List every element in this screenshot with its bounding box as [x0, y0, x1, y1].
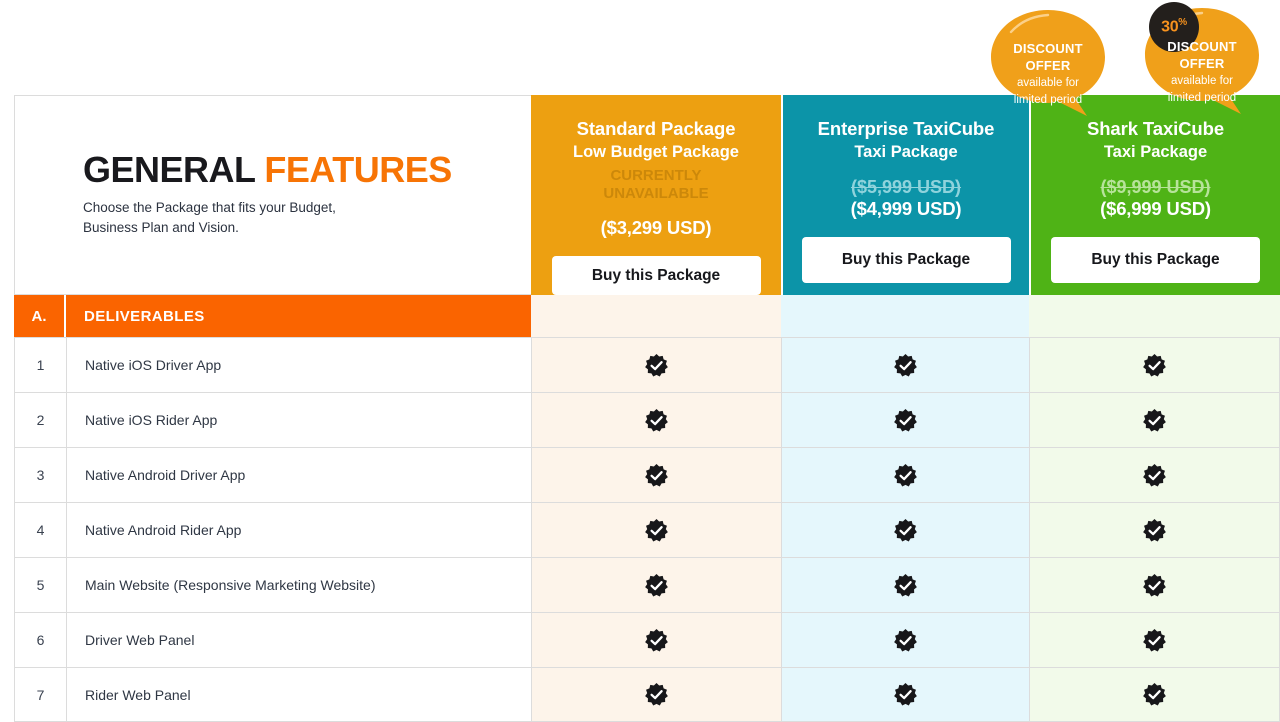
page-subtitle: Choose the Package that fits your Budget… — [83, 198, 531, 239]
feature-availability-enterprise — [781, 612, 1029, 667]
package-header-standard: Standard Package Low Budget Package CURR… — [531, 95, 781, 295]
check-badge-icon — [1143, 519, 1166, 542]
feature-label: Rider Web Panel — [66, 667, 531, 722]
page-title-primary: GENERAL — [83, 149, 255, 190]
feature-label: Native iOS Rider App — [66, 392, 531, 447]
feature-availability-shark — [1029, 337, 1280, 392]
check-badge-icon — [894, 409, 917, 432]
feature-label: Native Android Rider App — [66, 502, 531, 557]
feature-availability-enterprise — [781, 392, 1029, 447]
package-name-standard: Standard Package — [577, 117, 736, 142]
package-status-standard-line-2: UNAVAILABLE — [603, 185, 708, 203]
check-badge-icon — [1143, 409, 1166, 432]
row-number: 5 — [14, 557, 66, 612]
row-number: 2 — [14, 392, 66, 447]
pricing-table: GENERAL FEATURES Choose the Package that… — [14, 95, 1266, 722]
discount-badge-enterprise[interactable]: DISCOUNT OFFER available for limited per… — [983, 4, 1113, 116]
package-name-shark: Shark TaxiCube — [1087, 117, 1224, 142]
feature-availability-shark — [1029, 502, 1280, 557]
package-status-standard: CURRENTLY UNAVAILABLE — [603, 167, 708, 203]
feature-availability-enterprise — [781, 337, 1029, 392]
feature-availability-shark — [1029, 667, 1280, 722]
feature-availability-shark — [1029, 447, 1280, 502]
feature-availability-enterprise — [781, 557, 1029, 612]
feature-availability-standard — [531, 612, 781, 667]
package-header-shark: Shark TaxiCube Taxi Package ($9,999 USD)… — [1029, 95, 1280, 295]
package-price-standard: ($3,299 USD) — [601, 217, 712, 239]
row-number: 7 — [14, 667, 66, 722]
feature-availability-shark — [1029, 612, 1280, 667]
check-badge-icon — [894, 519, 917, 542]
check-badge-icon — [645, 354, 668, 377]
check-badge-icon — [1143, 683, 1166, 706]
discount-percent-symbol: % — [1178, 17, 1187, 28]
check-badge-icon — [894, 574, 917, 597]
page-subtitle-line-2: Business Plan and Vision. — [83, 218, 531, 239]
section-fill-shark — [1029, 295, 1280, 337]
section-fill-standard — [531, 295, 781, 337]
page-title-block: GENERAL FEATURES Choose the Package that… — [14, 95, 531, 295]
section-fill-enterprise — [781, 295, 1029, 337]
discount-badge-shark[interactable]: 30% DISCOUNT OFFER available for limited… — [1137, 2, 1267, 114]
feature-label: Driver Web Panel — [66, 612, 531, 667]
row-number: 3 — [14, 447, 66, 502]
feature-availability-enterprise — [781, 502, 1029, 557]
buy-button-standard[interactable]: Buy this Package — [552, 256, 761, 295]
discount-percent-text: 30% — [1161, 17, 1187, 36]
check-badge-icon — [894, 354, 917, 377]
check-badge-icon — [645, 574, 668, 597]
discount-percent-circle: 30% — [1149, 2, 1199, 52]
page-title-accent: FEATURES — [264, 149, 451, 190]
feature-availability-standard — [531, 667, 781, 722]
page-subtitle-line-1: Choose the Package that fits your Budget… — [83, 198, 531, 219]
row-number: 1 — [14, 337, 66, 392]
feature-availability-shark — [1029, 557, 1280, 612]
row-number: 6 — [14, 612, 66, 667]
check-badge-icon — [894, 464, 917, 487]
section-title: DELIVERABLES — [66, 295, 531, 337]
check-badge-icon — [645, 629, 668, 652]
check-badge-icon — [1143, 574, 1166, 597]
buy-button-shark[interactable]: Buy this Package — [1051, 237, 1260, 283]
check-badge-icon — [1143, 629, 1166, 652]
package-price-enterprise: ($4,999 USD) — [851, 198, 962, 220]
section-letter: A. — [14, 295, 66, 337]
package-old-price-shark: ($9,999 USD) — [1100, 177, 1210, 198]
row-number: 4 — [14, 502, 66, 557]
feature-availability-enterprise — [781, 447, 1029, 502]
check-badge-icon — [1143, 354, 1166, 377]
feature-label: Main Website (Responsive Marketing Websi… — [66, 557, 531, 612]
feature-availability-standard — [531, 447, 781, 502]
package-tagline-standard: Low Budget Package — [573, 142, 739, 163]
feature-label: Native iOS Driver App — [66, 337, 531, 392]
check-badge-icon — [1143, 464, 1166, 487]
feature-availability-enterprise — [781, 667, 1029, 722]
feature-availability-standard — [531, 502, 781, 557]
package-tagline-enterprise: Taxi Package — [854, 142, 957, 163]
check-badge-icon — [645, 409, 668, 432]
discount-percent-value: 30 — [1161, 19, 1178, 36]
check-badge-icon — [645, 519, 668, 542]
feature-label: Native Android Driver App — [66, 447, 531, 502]
package-name-enterprise: Enterprise TaxiCube — [818, 117, 995, 142]
pricing-comparison-page: GENERAL FEATURES Choose the Package that… — [0, 0, 1280, 722]
package-price-shark: ($6,999 USD) — [1100, 198, 1211, 220]
check-badge-icon — [894, 629, 917, 652]
check-badge-icon — [645, 464, 668, 487]
speech-bubble-shape — [983, 4, 1113, 116]
feature-availability-standard — [531, 557, 781, 612]
package-header-enterprise: Enterprise TaxiCube Taxi Package ($5,999… — [781, 95, 1029, 295]
package-status-standard-line-1: CURRENTLY — [603, 167, 708, 185]
feature-availability-standard — [531, 337, 781, 392]
page-title: GENERAL FEATURES — [83, 151, 531, 189]
feature-availability-shark — [1029, 392, 1280, 447]
check-badge-icon — [894, 683, 917, 706]
buy-button-enterprise[interactable]: Buy this Package — [802, 237, 1011, 283]
check-badge-icon — [645, 683, 668, 706]
package-old-price-enterprise: ($5,999 USD) — [851, 177, 961, 198]
package-tagline-shark: Taxi Package — [1104, 142, 1207, 163]
feature-availability-standard — [531, 392, 781, 447]
